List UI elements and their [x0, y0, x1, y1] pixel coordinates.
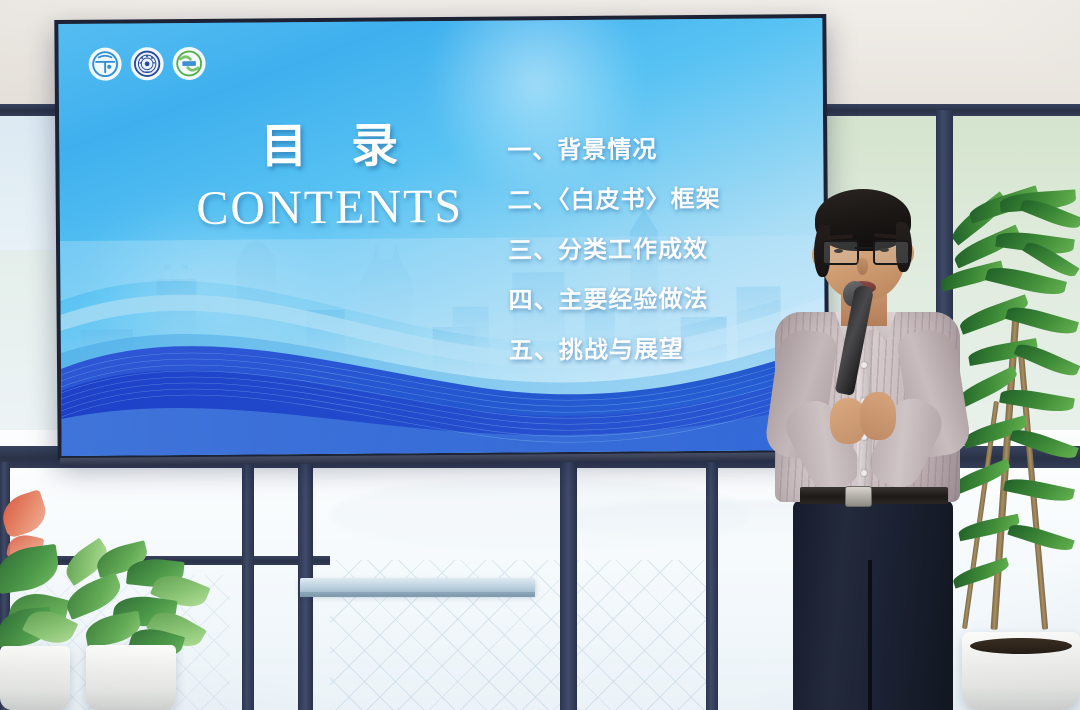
- toc-item-1: 一、背景情况: [507, 136, 807, 162]
- bamboo-pot-soil: [970, 638, 1072, 654]
- transport-bureau-icon: [91, 50, 120, 79]
- presenter-belt: [800, 487, 948, 504]
- presenter-nose: [857, 258, 868, 275]
- tv-stand-shelf-edge: [300, 592, 535, 597]
- presenter-trousers: [793, 500, 953, 710]
- anthurium-pot: [0, 646, 70, 710]
- presentation-scene: 目 录 CONTENTS 一、背景情况 二、〈白皮书〉框架 三、分类工作成效 四…: [0, 0, 1080, 710]
- transport-bureau-logo: [89, 48, 122, 81]
- environmental-protection-icon: [175, 49, 204, 78]
- dieffenbachia-pot: [86, 645, 176, 710]
- slide-screen: 目 录 CONTENTS 一、背景情况 二、〈白皮书〉框架 三、分类工作成效 四…: [58, 18, 825, 456]
- presentation-display[interactable]: 目 录 CONTENTS 一、背景情况 二、〈白皮书〉框架 三、分类工作成效 四…: [54, 14, 829, 460]
- toc-item-5: 五、挑战与展望: [509, 336, 809, 362]
- presenter-belt-buckle: [845, 486, 872, 507]
- glasses-lens-right: [873, 240, 910, 265]
- presenter-hand-right: [860, 392, 896, 440]
- slide-toc-list: 一、背景情况 二、〈白皮书〉框架 三、分类工作成效 四、主要经验做法 五、挑战与…: [507, 136, 809, 388]
- tv-stand-leg-right: [560, 462, 577, 710]
- government-emblem-icon: [133, 49, 162, 78]
- window-post-low-2: [706, 462, 718, 710]
- slide-logo-row: [89, 47, 206, 81]
- window-post-low-1: [242, 462, 254, 710]
- government-emblem-logo: [131, 47, 164, 80]
- toc-item-3: 三、分类工作成效: [508, 236, 808, 262]
- slide-title-english: CONTENTS: [180, 178, 480, 236]
- slide-title-block: 目 录 CONTENTS: [179, 121, 480, 236]
- environmental-protection-logo: [173, 47, 206, 80]
- presenter-trouser-seam: [868, 560, 872, 710]
- slide-title-chinese: 目 录: [179, 121, 479, 175]
- glasses-lens-left: [822, 240, 859, 265]
- shirt-button-4: [861, 470, 867, 476]
- glasses-bridge: [855, 247, 873, 249]
- shirt-button-1: [861, 362, 867, 368]
- toc-item-4: 四、主要经验做法: [508, 286, 808, 312]
- toc-item-2: 二、〈白皮书〉框架: [508, 186, 808, 212]
